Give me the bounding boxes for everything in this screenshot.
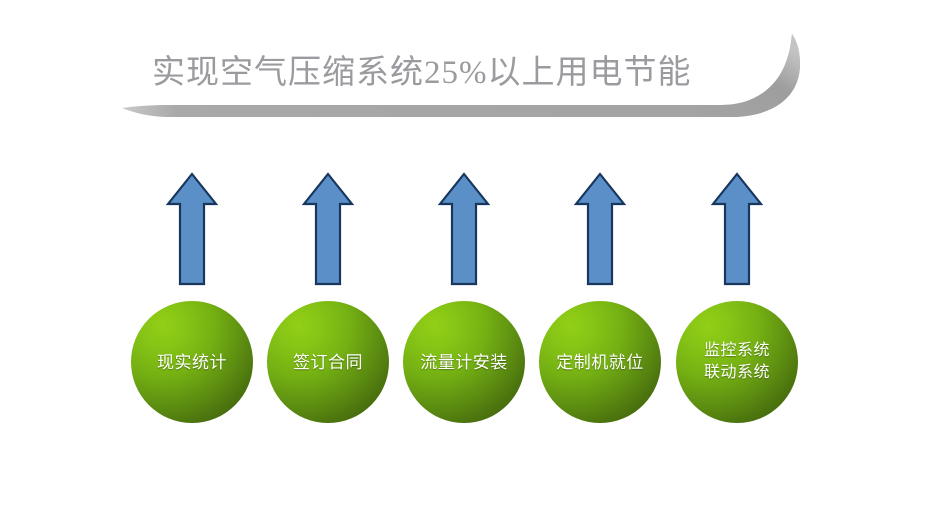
step-bubble[interactable]: 监控系统 联动系统 bbox=[676, 301, 798, 423]
step-bubble[interactable]: 现实统计 bbox=[131, 301, 253, 423]
up-arrow-icon bbox=[438, 172, 490, 286]
up-arrow-icon bbox=[711, 172, 763, 286]
step-column: 监控系统 联动系统 bbox=[667, 0, 807, 529]
step-bubble-label: 监控系统 联动系统 bbox=[700, 340, 774, 384]
step-bubble[interactable]: 流量计安装 bbox=[403, 301, 525, 423]
step-column: 定制机就位 bbox=[530, 0, 670, 529]
step-column: 流量计安装 bbox=[394, 0, 534, 529]
step-bubble[interactable]: 签订合同 bbox=[267, 301, 389, 423]
slide-canvas: 实现空气压缩系统25%以上用电节能 现实统计 签订合同 流量计安装 bbox=[0, 0, 945, 529]
step-column: 签订合同 bbox=[258, 0, 398, 529]
step-column: 现实统计 bbox=[122, 0, 262, 529]
step-bubble[interactable]: 定制机就位 bbox=[539, 301, 661, 423]
step-bubble-label: 现实统计 bbox=[153, 351, 231, 374]
step-bubble-label: 流量计安装 bbox=[416, 351, 512, 374]
step-bubble-label: 定制机就位 bbox=[552, 351, 648, 374]
up-arrow-icon bbox=[574, 172, 626, 286]
up-arrow-icon bbox=[302, 172, 354, 286]
step-bubble-label: 签订合同 bbox=[289, 351, 367, 374]
up-arrow-icon bbox=[166, 172, 218, 286]
